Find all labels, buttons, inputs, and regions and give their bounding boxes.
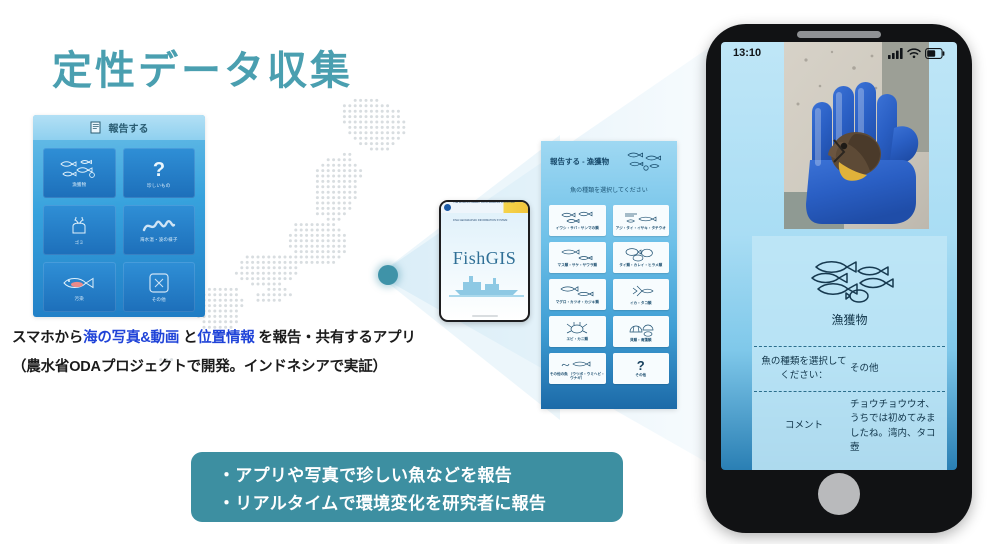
field-label: 魚の種類を選択してください： [758, 355, 850, 384]
left-tile-label: ゴミ [75, 240, 84, 246]
caption-highlight-location: 位置情報 [197, 330, 254, 346]
field-row-comment[interactable]: コメント チョウチョウウオ、うちでは初めてみましたね。湾内、タコ壺 [752, 392, 947, 461]
red-tide-fish-icon [60, 272, 98, 294]
catch-card-label: タイ類・カレイ・ヒラメ類 [619, 263, 662, 267]
catch-card-label: イワシ・サバ・サンマの類 [556, 226, 599, 230]
left-tile-label: 污染 [75, 296, 84, 302]
grid-frame-icon [147, 271, 171, 295]
left-app-header-title: 報告する [109, 120, 149, 135]
map-marker-report-point[interactable] [378, 265, 398, 285]
crab-icon [565, 321, 589, 336]
cellular-signal-icon [888, 48, 903, 59]
left-tile-pollution[interactable]: 污染 [43, 262, 116, 312]
catch-card[interactable]: エビ・カニ類 [549, 316, 606, 347]
catch-card[interactable]: イワシ・サバ・サンマの類 [549, 205, 606, 236]
app-logo-icon [444, 204, 451, 211]
wifi-icon [907, 48, 921, 59]
left-tile-catch[interactable]: 漁獲物 [43, 148, 116, 198]
caption-seg: を報告・共有するアプリ [255, 330, 416, 346]
battery-icon [925, 48, 945, 59]
field-value: その他 [850, 362, 941, 376]
catch-card-label: イカ・タコ類 [630, 301, 652, 305]
app-name: FishGIS [441, 248, 528, 269]
eel-icon [560, 357, 594, 371]
field-value: チョウチョウウオ、うちでは初めてみましたね。湾内、タコ壺 [850, 398, 941, 455]
left-tile-other[interactable]: その他 [123, 262, 196, 312]
category-block: 漁獲物 [752, 236, 947, 346]
trash-bag-icon [68, 214, 90, 238]
left-tile-wave[interactable]: 海水温・波の様子 [123, 205, 196, 255]
caption-seg: と [179, 330, 197, 346]
fish-school-icon [626, 150, 668, 172]
home-button[interactable] [818, 473, 860, 515]
caption-line-2: （農水省ODAプロジェクトで開発。インドネシアで実証） [12, 355, 387, 376]
catch-card[interactable]: マス類・サケ・サワラ類 [549, 242, 606, 273]
left-tile-rare[interactable]: ? 珍しいもの [123, 148, 196, 198]
trout-icon [559, 247, 595, 262]
mid-phone-header: 報告する - 漁獲物 [541, 141, 677, 172]
wave-icon [142, 217, 176, 235]
left-app-header: 報告する [33, 115, 205, 140]
left-tile-trash[interactable]: ゴミ [43, 205, 116, 255]
catch-photo[interactable] [784, 42, 929, 229]
left-tile-label: 海水温・波の様子 [140, 237, 178, 243]
flatfish-icon [623, 247, 659, 262]
mid-phone-subtitle: 魚の種類を選択してください [541, 185, 677, 194]
fish-school-icon [802, 255, 898, 305]
left-tile-label: その他 [152, 297, 166, 303]
bullet-item-2: ・リアルタイムで環境変化を研究者に報告 [218, 489, 623, 514]
detail-phone-screen: 13:10 [721, 42, 957, 470]
catch-card[interactable]: イカ・タコ類 [613, 279, 670, 310]
catch-card-label: アジ・タイ・イサキ・タチウオ [616, 226, 666, 230]
catch-card[interactable]: マグロ・カツオ・カジキ類 [549, 279, 606, 310]
bullet-item-1: ・アプリや写真で珍しい魚などを報告 [218, 461, 623, 486]
left-app-tile-grid: 漁獲物 ? 珍しいもの ゴミ [33, 140, 205, 317]
bullet-callout-box: ・アプリや写真で珍しい魚などを報告 ・リアルタイムで環境変化を研究者に報告 [191, 452, 623, 522]
splash-banner-line-2: FISH GEOGRAPHIC INFORMATION SYSTEM [453, 219, 507, 222]
question-mark-icon: ? [637, 360, 645, 372]
page-title: 定性データ収集 [52, 38, 353, 96]
mid-phone-card-grid: イワシ・サバ・サンマの類 アジ・タイ・イサキ・タチウオ [541, 205, 677, 384]
tuna-icon [559, 284, 595, 299]
splash-home-indicator [472, 315, 498, 317]
catch-card[interactable]: アジ・タイ・イサキ・タチウオ [613, 205, 670, 236]
catch-card-label: その他の魚 （ウツボ・ウミヘビ・ウナギ） [549, 372, 606, 381]
fish-pair-icon [559, 210, 595, 225]
shell-icon [626, 321, 656, 337]
detail-phone-mockup: 13:10 [706, 24, 972, 533]
fishing-boat-icon [449, 272, 520, 298]
splash-banner: THE WORLD FISHERY DATA SHARING PLATFORM … [441, 202, 528, 213]
catch-card-label: その他 [635, 373, 646, 377]
caption-line-1: スマホから海の写真&動画 と位置情報 を報告・共有するアプリ [12, 326, 416, 347]
catch-card[interactable]: 貝類・海藻類 [613, 316, 670, 347]
field-label: コメント [758, 419, 850, 433]
category-label: 漁獲物 [831, 311, 867, 328]
fish-school-icon [59, 158, 99, 180]
slide-canvas: 定性データ収集 報告する [0, 0, 989, 544]
status-time: 13:10 [733, 47, 761, 59]
status-bar: 13:10 [721, 42, 957, 64]
report-detail-card: 漁獲物 魚の種類を選択してください： その他 コメント チョウチョウウオ、うちで… [752, 236, 947, 470]
catch-card-label: マス類・サケ・サワラ類 [557, 263, 597, 267]
splash-screen: THE WORLD FISHERY DATA SHARING PLATFORM … [441, 202, 528, 320]
left-tile-label: 珍しいもの [147, 183, 171, 189]
long-fish-icon [623, 210, 659, 225]
caption-highlight-photo: 海の写真&動画 [83, 330, 179, 346]
squid-icon [628, 284, 654, 300]
left-app-screenshot: 報告する 漁獲物 ? 珍しいもの [33, 115, 205, 317]
caption-seg: スマホから [12, 330, 83, 346]
catch-card-other[interactable]: ? その他 [613, 353, 670, 384]
document-icon [90, 121, 102, 134]
left-tile-label: 漁獲物 [72, 182, 86, 188]
splash-banner-line-1: THE WORLD FISHERY DATA SHARING PLATFORM [453, 202, 515, 204]
mid-phone-header-title: 報告する - 漁獲物 [550, 156, 609, 167]
catch-list-phone-screenshot: 報告する - 漁獲物 魚の種類を選択してください [541, 141, 677, 409]
question-mark-icon: ? [149, 157, 169, 181]
field-row-species[interactable]: 魚の種類を選択してください： その他 [752, 347, 947, 391]
catch-card-label: エビ・カニ類 [566, 337, 588, 341]
phone-speaker [797, 31, 881, 38]
svg-text:?: ? [153, 159, 165, 181]
catch-card-label: 貝類・海藻類 [630, 338, 652, 342]
catch-card[interactable]: その他の魚 （ウツボ・ウミヘビ・ウナギ） [549, 353, 606, 384]
catch-card[interactable]: タイ類・カレイ・ヒラメ類 [613, 242, 670, 273]
catch-card-label: マグロ・カツオ・カジキ類 [556, 300, 599, 304]
splash-phone-mockup: THE WORLD FISHERY DATA SHARING PLATFORM … [439, 200, 530, 322]
status-icons [888, 48, 945, 59]
